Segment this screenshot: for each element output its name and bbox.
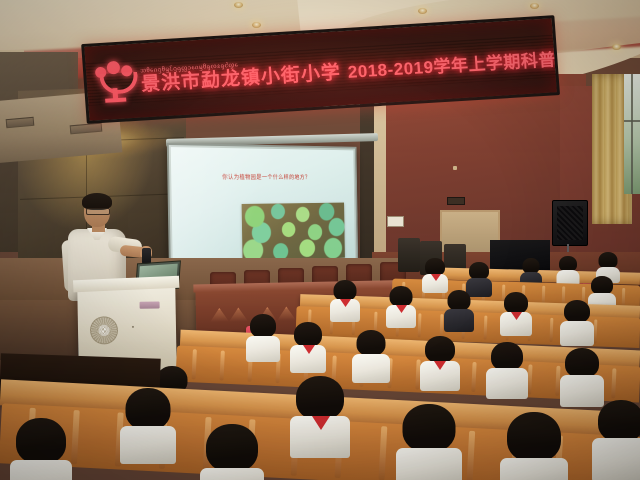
slide-title: 你认为植物园是一个什么样的地方？ — [191, 172, 337, 181]
auditorium-photo: ᦉᦲᧈᦵᦋᦲᧄᦷᦋᧂᦜᦱᧈᦵᦙᦲᧂᦟᦸᧂᦺᦖᧈ 景洪市勐龙镇小街小学 2018-… — [0, 0, 640, 480]
student — [396, 404, 462, 480]
student — [500, 292, 532, 334]
student — [560, 300, 594, 344]
student — [560, 348, 604, 404]
recessed-downlight-icon — [612, 44, 621, 50]
recessed-downlight-icon — [418, 8, 427, 14]
recessed-downlight-icon — [234, 2, 243, 8]
student — [444, 290, 474, 330]
student — [486, 342, 528, 396]
student — [200, 424, 264, 480]
wall-fixture-dot — [453, 166, 457, 170]
school-emblem-icon — [93, 59, 136, 105]
student — [386, 286, 416, 326]
rosette-emblem-icon — [90, 316, 118, 344]
table-zigzag-motif — [210, 307, 248, 322]
glasses-icon — [86, 208, 110, 215]
pa-speaker — [552, 200, 588, 246]
recessed-downlight-icon — [530, 3, 539, 9]
recessed-downlight-icon — [252, 22, 261, 28]
student — [290, 376, 350, 454]
slide-photo-tree-canopy — [242, 203, 345, 263]
student — [592, 400, 640, 480]
side-chair — [398, 238, 420, 272]
student — [500, 412, 568, 480]
podium-label-strip — [140, 301, 160, 308]
window-mullion — [631, 74, 633, 194]
student — [290, 322, 326, 370]
student — [330, 280, 360, 320]
student — [246, 314, 280, 360]
student — [556, 256, 580, 286]
student — [422, 258, 448, 292]
student — [120, 388, 176, 458]
student — [420, 336, 460, 388]
wall-plaque — [447, 197, 465, 205]
student — [352, 330, 390, 380]
exit-sign — [387, 216, 404, 227]
student — [10, 418, 72, 480]
